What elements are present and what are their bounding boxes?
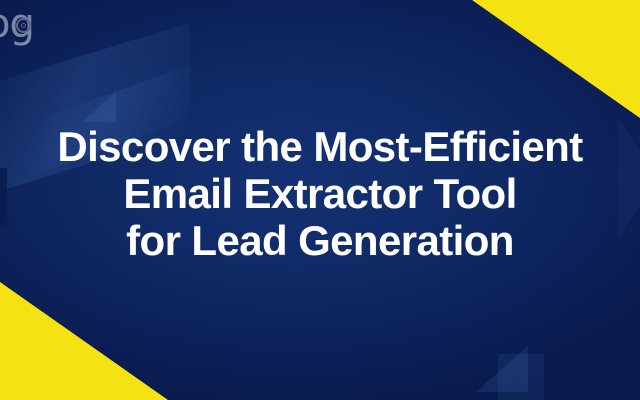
headline-line-1: Discover the Most-Efficient: [24, 123, 616, 170]
concentric-circle-icon: [16, 18, 31, 33]
logo-watermark: og: [0, 4, 34, 44]
headline: Discover the Most-Efficient Email Extrac…: [0, 123, 640, 264]
headline-line-2: Email Extractor Tool: [24, 170, 616, 217]
headline-line-3: for Lead Generation: [24, 217, 616, 264]
hero-banner: og Discover the Most-Efficient Email Ext…: [0, 0, 640, 400]
